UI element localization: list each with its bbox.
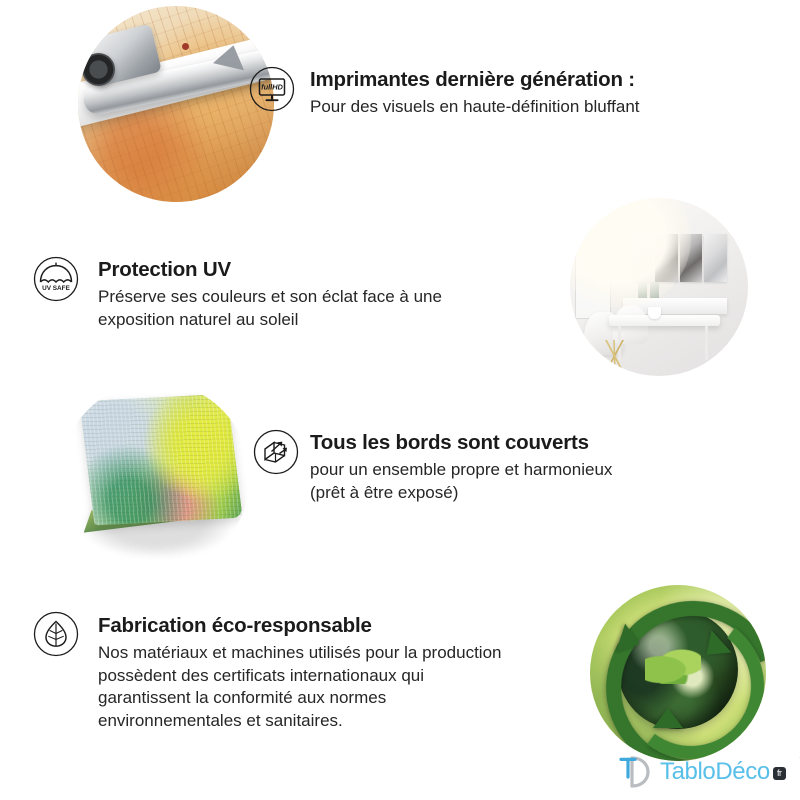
logo-word-text: TabloDéco: [660, 758, 770, 785]
feature-title-uv: Protection UV: [98, 258, 538, 282]
feature-desc-printers: Pour des visuels en haute-définition blu…: [310, 96, 730, 119]
tablodeco-logo[interactable]: TabloDéco™fr: [612, 752, 786, 792]
feature-desc-line: Préserve ses couleurs et son éclat face …: [98, 286, 538, 309]
feature-title-eco: Fabrication éco-responsable: [98, 614, 598, 638]
recycling-arrow: [653, 708, 683, 728]
feature-desc-line: environnementales et sanitaires.: [98, 710, 598, 733]
wrapped-canvas-edges-icon: [253, 429, 299, 475]
feature-desc-line: pour un ensemble propre et harmonieux: [310, 459, 730, 482]
dining-table: [609, 315, 719, 326]
tld-badge: fr: [773, 767, 786, 780]
feature-desc-eco: Nos matériaux et machines utilisés pour …: [98, 642, 598, 734]
svg-text:UV SAFE: UV SAFE: [42, 285, 70, 292]
product-features-infographic: fullHD Imprimantes dernière génération :…: [0, 0, 800, 800]
feature-text-edges: Tous les bords sont couverts pour un ens…: [310, 431, 730, 504]
feature-desc-line: exposition naturel au soleil: [98, 309, 538, 332]
feature-text-eco: Fabrication éco-responsable Nos matériau…: [98, 614, 598, 733]
feature-title-printers: Imprimantes dernière génération :: [310, 68, 730, 92]
feature-text-uv: Protection UV Préserve ses couleurs et s…: [98, 258, 538, 331]
td-monogram-icon: [612, 752, 658, 792]
dried-plant: [591, 340, 637, 372]
canvas-corner-photo: [60, 382, 250, 572]
logo-wordmark: TabloDéco™fr: [660, 758, 786, 786]
feature-title-edges: Tous les bords sont couverts: [310, 431, 730, 455]
sunlight-glow: [570, 198, 691, 308]
feature-text-printers: Imprimantes dernière génération : Pour d…: [310, 68, 730, 119]
fullhd-monitor-icon: fullHD: [249, 66, 295, 112]
art-panel: [704, 234, 727, 282]
feature-desc-line: possèdent des certificats internationaux…: [98, 665, 598, 688]
sunlit-interior-photo: [570, 198, 748, 376]
leaf-eco-icon: [33, 611, 79, 657]
uv-safe-umbrella-icon: UV SAFE: [33, 256, 79, 302]
feature-desc-uv: Préserve ses couleurs et son éclat face …: [98, 286, 538, 332]
feature-desc-line: (prêt à être exposé): [310, 482, 730, 505]
feature-desc-line: garantissent la conformité aux normes: [98, 687, 598, 710]
feature-desc-line: Pour des visuels en haute-définition blu…: [310, 96, 730, 119]
feature-desc-line: Nos matériaux et machines utilisés pour …: [98, 642, 598, 665]
leaf-sprout: [645, 648, 701, 683]
svg-text:fullHD: fullHD: [261, 82, 283, 91]
large-format-printer-photo: [78, 6, 274, 202]
eco-globe-photo: [590, 585, 766, 761]
canvas-printed-face: [79, 394, 243, 526]
table-leg: [705, 326, 708, 360]
coffee-cup: [648, 307, 660, 319]
feature-desc-edges: pour un ensemble propre et harmonieux (p…: [310, 459, 730, 505]
